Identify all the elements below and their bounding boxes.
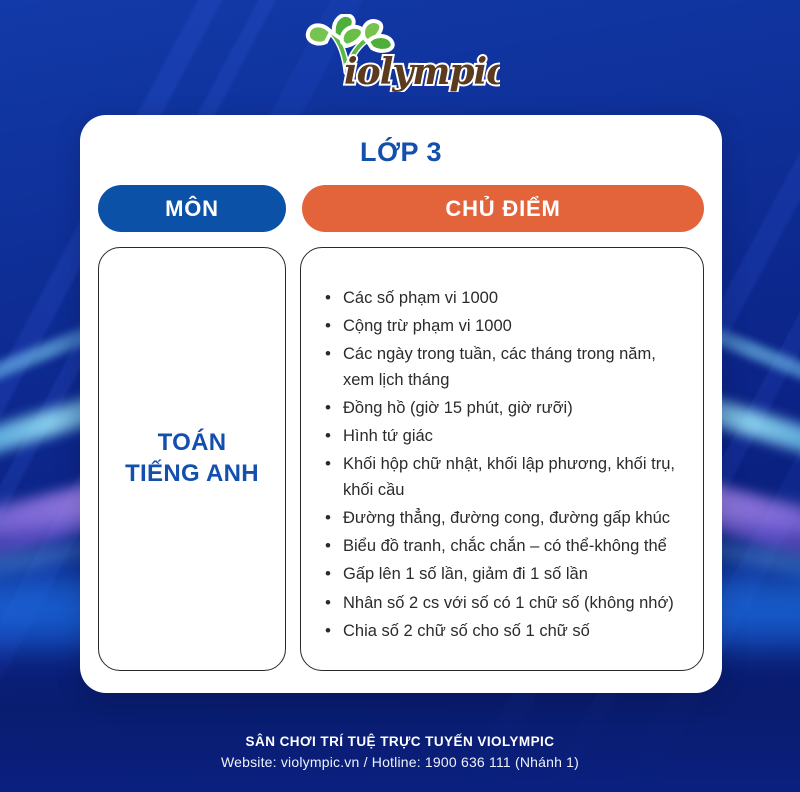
table-body-row: TOÁN TIẾNG ANH Các số phạm vi 1000Cộng t… xyxy=(80,232,722,671)
topic-item: Đường thẳng, đường cong, đường gấp khúc xyxy=(341,506,685,531)
table-header-row: MÔN CHỦ ĐIỂM xyxy=(80,166,722,232)
subject-line-2: TIẾNG ANH xyxy=(125,459,259,490)
content-card: LỚP 3 MÔN CHỦ ĐIỂM TOÁN TIẾNG ANH Các số… xyxy=(80,115,722,693)
topic-item: Các số phạm vi 1000 xyxy=(341,286,685,311)
topic-item: Khối hộp chữ nhật, khối lập phương, khối… xyxy=(341,452,685,502)
svg-text:iolympic: iolympic xyxy=(344,51,500,92)
topic-item: Nhân số 2 cs với số có 1 chữ số (không n… xyxy=(341,591,685,616)
topic-item: Chia số 2 chữ số cho số 1 chữ số xyxy=(341,619,685,644)
topics-cell: Các số phạm vi 1000Cộng trừ phạm vi 1000… xyxy=(300,247,704,671)
topic-item: Đồng hồ (giờ 15 phút, giờ rưỡi) xyxy=(341,396,685,421)
topic-item: Gấp lên 1 số lần, giảm đi 1 số lần xyxy=(341,562,685,587)
topic-list: Các số phạm vi 1000Cộng trừ phạm vi 1000… xyxy=(311,286,685,644)
topic-item: Biểu đồ tranh, chắc chắn – có thể-không … xyxy=(341,534,685,559)
column-header-subject: MÔN xyxy=(98,185,286,232)
subject-line-1: TOÁN xyxy=(125,428,259,459)
page-title: LỚP 3 xyxy=(80,115,722,166)
footer: SÂN CHƠI TRÍ TUỆ TRỰC TUYẾN VIOLYMPIC We… xyxy=(0,734,800,770)
topic-item: Cộng trừ phạm vi 1000 xyxy=(341,314,685,339)
topic-item: Các ngày trong tuần, các tháng trong năm… xyxy=(341,342,685,392)
violympic-logo-icon: iolympic xyxy=(300,14,500,92)
subject-names: TOÁN TIẾNG ANH xyxy=(125,428,259,489)
footer-tagline: SÂN CHƠI TRÍ TUỆ TRỰC TUYẾN VIOLYMPIC xyxy=(0,734,800,749)
topic-item: Hình tứ giác xyxy=(341,424,685,449)
brand-logo: iolympic xyxy=(0,14,800,92)
poster-stage: iolympic LỚP 3 MÔN CHỦ ĐIỂM TOÁN TIẾNG A… xyxy=(0,0,800,792)
column-header-topic: CHỦ ĐIỂM xyxy=(302,185,704,232)
footer-contact: Website: violympic.vn / Hotline: 1900 63… xyxy=(0,754,800,770)
subject-cell: TOÁN TIẾNG ANH xyxy=(98,247,286,671)
